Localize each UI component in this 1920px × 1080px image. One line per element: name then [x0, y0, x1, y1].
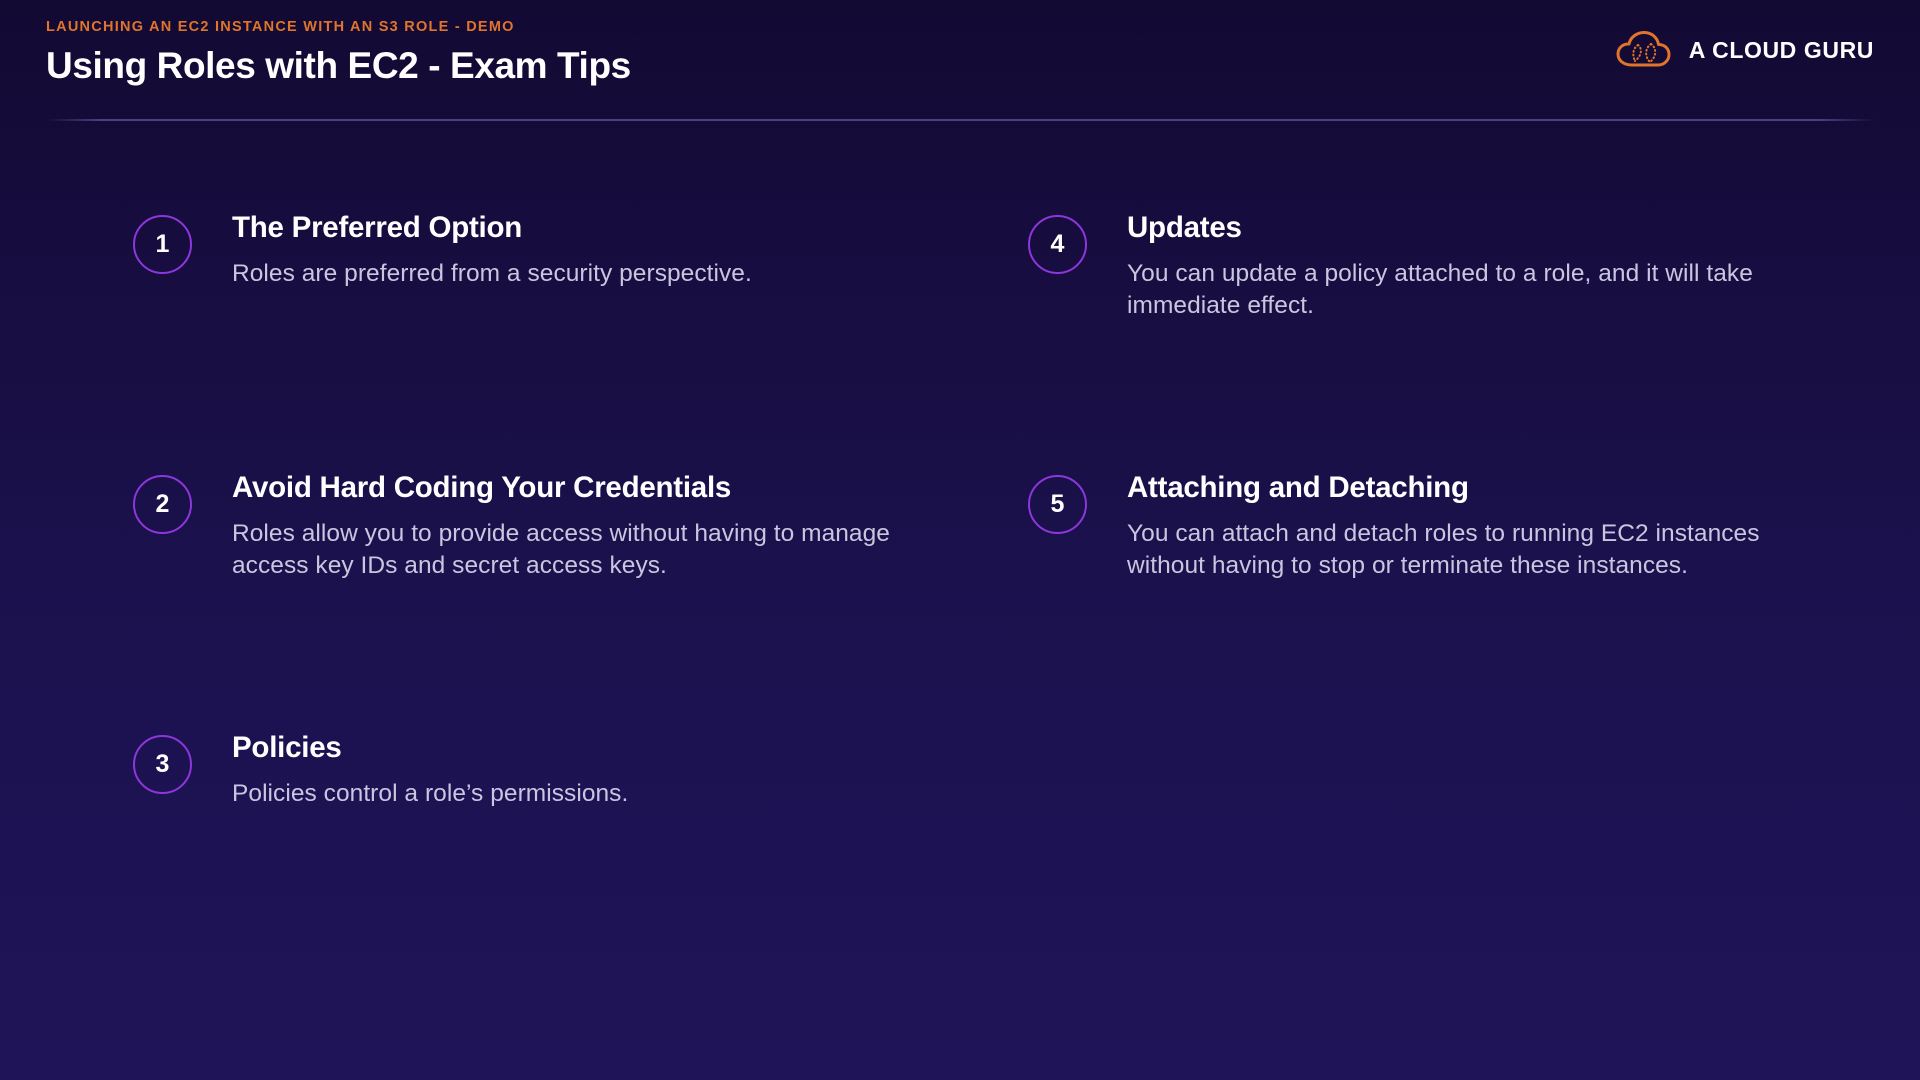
tip-description: Roles allow you to provide access withou… [232, 518, 912, 581]
tip-title: Attaching and Detaching [1127, 470, 1817, 505]
tip-title: Avoid Hard Coding Your Credentials [232, 470, 912, 505]
brand-name-label: A CLOUD GURU [1689, 37, 1874, 64]
tip-description: You can attach and detach roles to runni… [1127, 518, 1817, 581]
tip-item-3: 3 Policies Policies control a role’s per… [133, 725, 628, 810]
tip-description: Policies control a role’s permissions. [232, 778, 628, 809]
brand-logo-group: A CLOUD GURU [1615, 30, 1874, 70]
tip-number-badge: 5 [1028, 475, 1087, 534]
tip-body: Policies Policies control a role’s permi… [232, 725, 628, 810]
tip-title: Updates [1127, 210, 1817, 245]
tip-item-2: 2 Avoid Hard Coding Your Credentials Rol… [133, 465, 912, 581]
tip-title: The Preferred Option [232, 210, 752, 245]
header-divider [46, 119, 1875, 121]
tip-body: The Preferred Option Roles are preferred… [232, 205, 752, 290]
tip-body: Avoid Hard Coding Your Credentials Roles… [232, 465, 912, 581]
tip-item-1: 1 The Preferred Option Roles are preferr… [133, 205, 752, 290]
lesson-eyebrow-label: LAUNCHING AN EC2 INSTANCE WITH AN S3 ROL… [46, 20, 631, 36]
tip-number-badge: 1 [133, 215, 192, 274]
header-title-group: LAUNCHING AN EC2 INSTANCE WITH AN S3 ROL… [46, 20, 631, 86]
tip-body: Updates You can update a policy attached… [1127, 205, 1817, 321]
tip-number-badge: 2 [133, 475, 192, 534]
tip-description: You can update a policy attached to a ro… [1127, 258, 1817, 321]
tip-body: Attaching and Detaching You can attach a… [1127, 465, 1817, 581]
tip-item-5: 5 Attaching and Detaching You can attach… [1028, 465, 1817, 581]
tip-item-4: 4 Updates You can update a policy attach… [1028, 205, 1817, 321]
tip-number-badge: 4 [1028, 215, 1087, 274]
cloud-icon [1615, 30, 1672, 70]
tip-description: Roles are preferred from a security pers… [232, 258, 752, 289]
page-title: Using Roles with EC2 - Exam Tips [46, 45, 631, 86]
tip-title: Policies [232, 730, 628, 765]
slide-header: LAUNCHING AN EC2 INSTANCE WITH AN S3 ROL… [0, 0, 1920, 120]
tip-number-badge: 3 [133, 735, 192, 794]
